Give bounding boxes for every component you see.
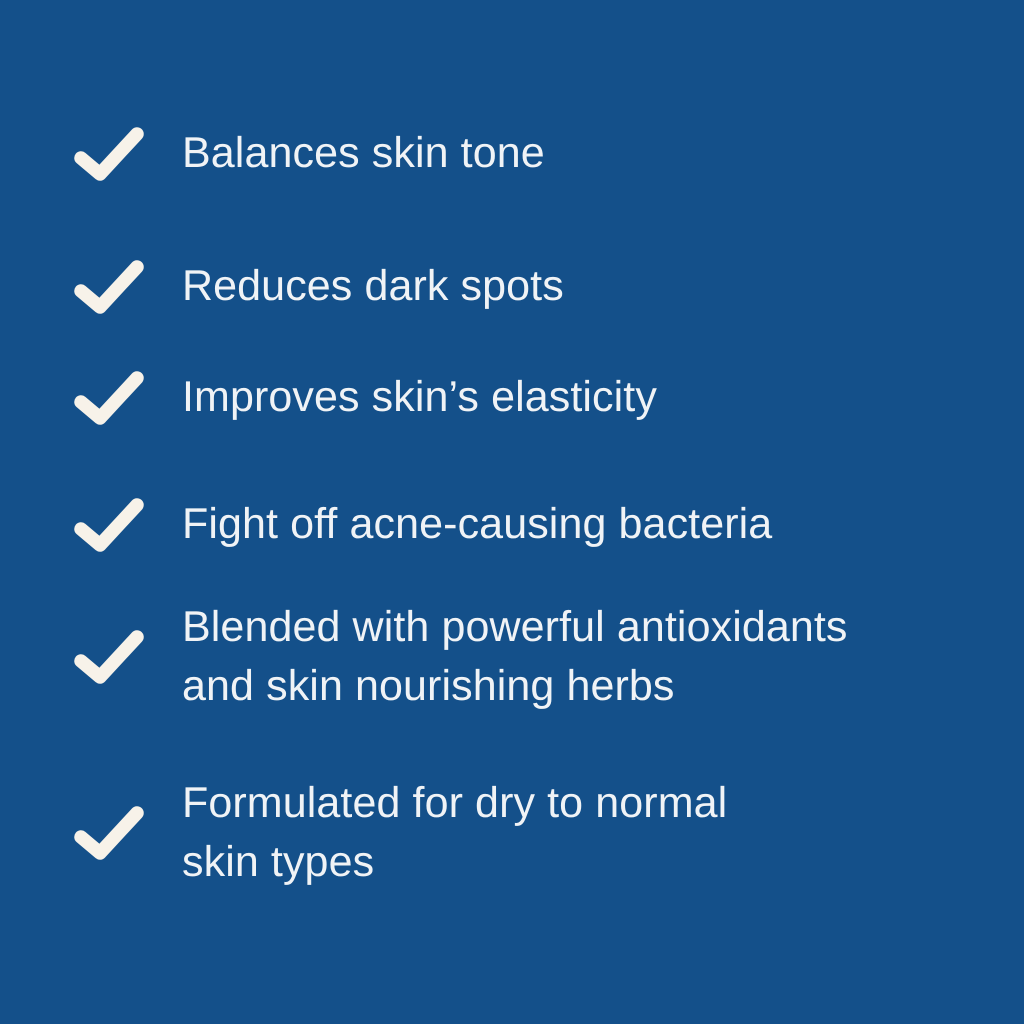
benefit-list-item: Reduces dark spots xyxy=(64,257,984,316)
benefit-list-item: Improves skin’s elasticity xyxy=(64,368,984,427)
benefit-label: Reduces dark spots xyxy=(182,257,564,316)
checkmark-icon xyxy=(64,369,182,427)
benefit-label: Blended with powerful antioxidants and s… xyxy=(182,598,848,716)
benefit-label: Fight off acne-causing bacteria xyxy=(182,495,772,554)
benefit-list-item: Blended with powerful antioxidants and s… xyxy=(64,598,984,716)
checkmark-icon xyxy=(64,258,182,316)
checkmark-icon xyxy=(64,628,182,686)
checkmark-icon xyxy=(64,496,182,554)
benefit-list-item: Formulated for dry to normal skin types xyxy=(64,774,984,892)
checkmark-icon xyxy=(64,125,182,183)
benefit-label: Improves skin’s elasticity xyxy=(182,368,657,427)
benefit-list-item: Fight off acne-causing bacteria xyxy=(64,495,984,554)
benefit-label: Balances skin tone xyxy=(182,124,545,183)
checkmark-icon xyxy=(64,804,182,862)
benefit-list-item: Balances skin tone xyxy=(64,124,984,183)
benefit-label: Formulated for dry to normal skin types xyxy=(182,774,727,892)
benefits-card: Balances skin tone Reduces dark spots Im… xyxy=(0,0,1024,1024)
